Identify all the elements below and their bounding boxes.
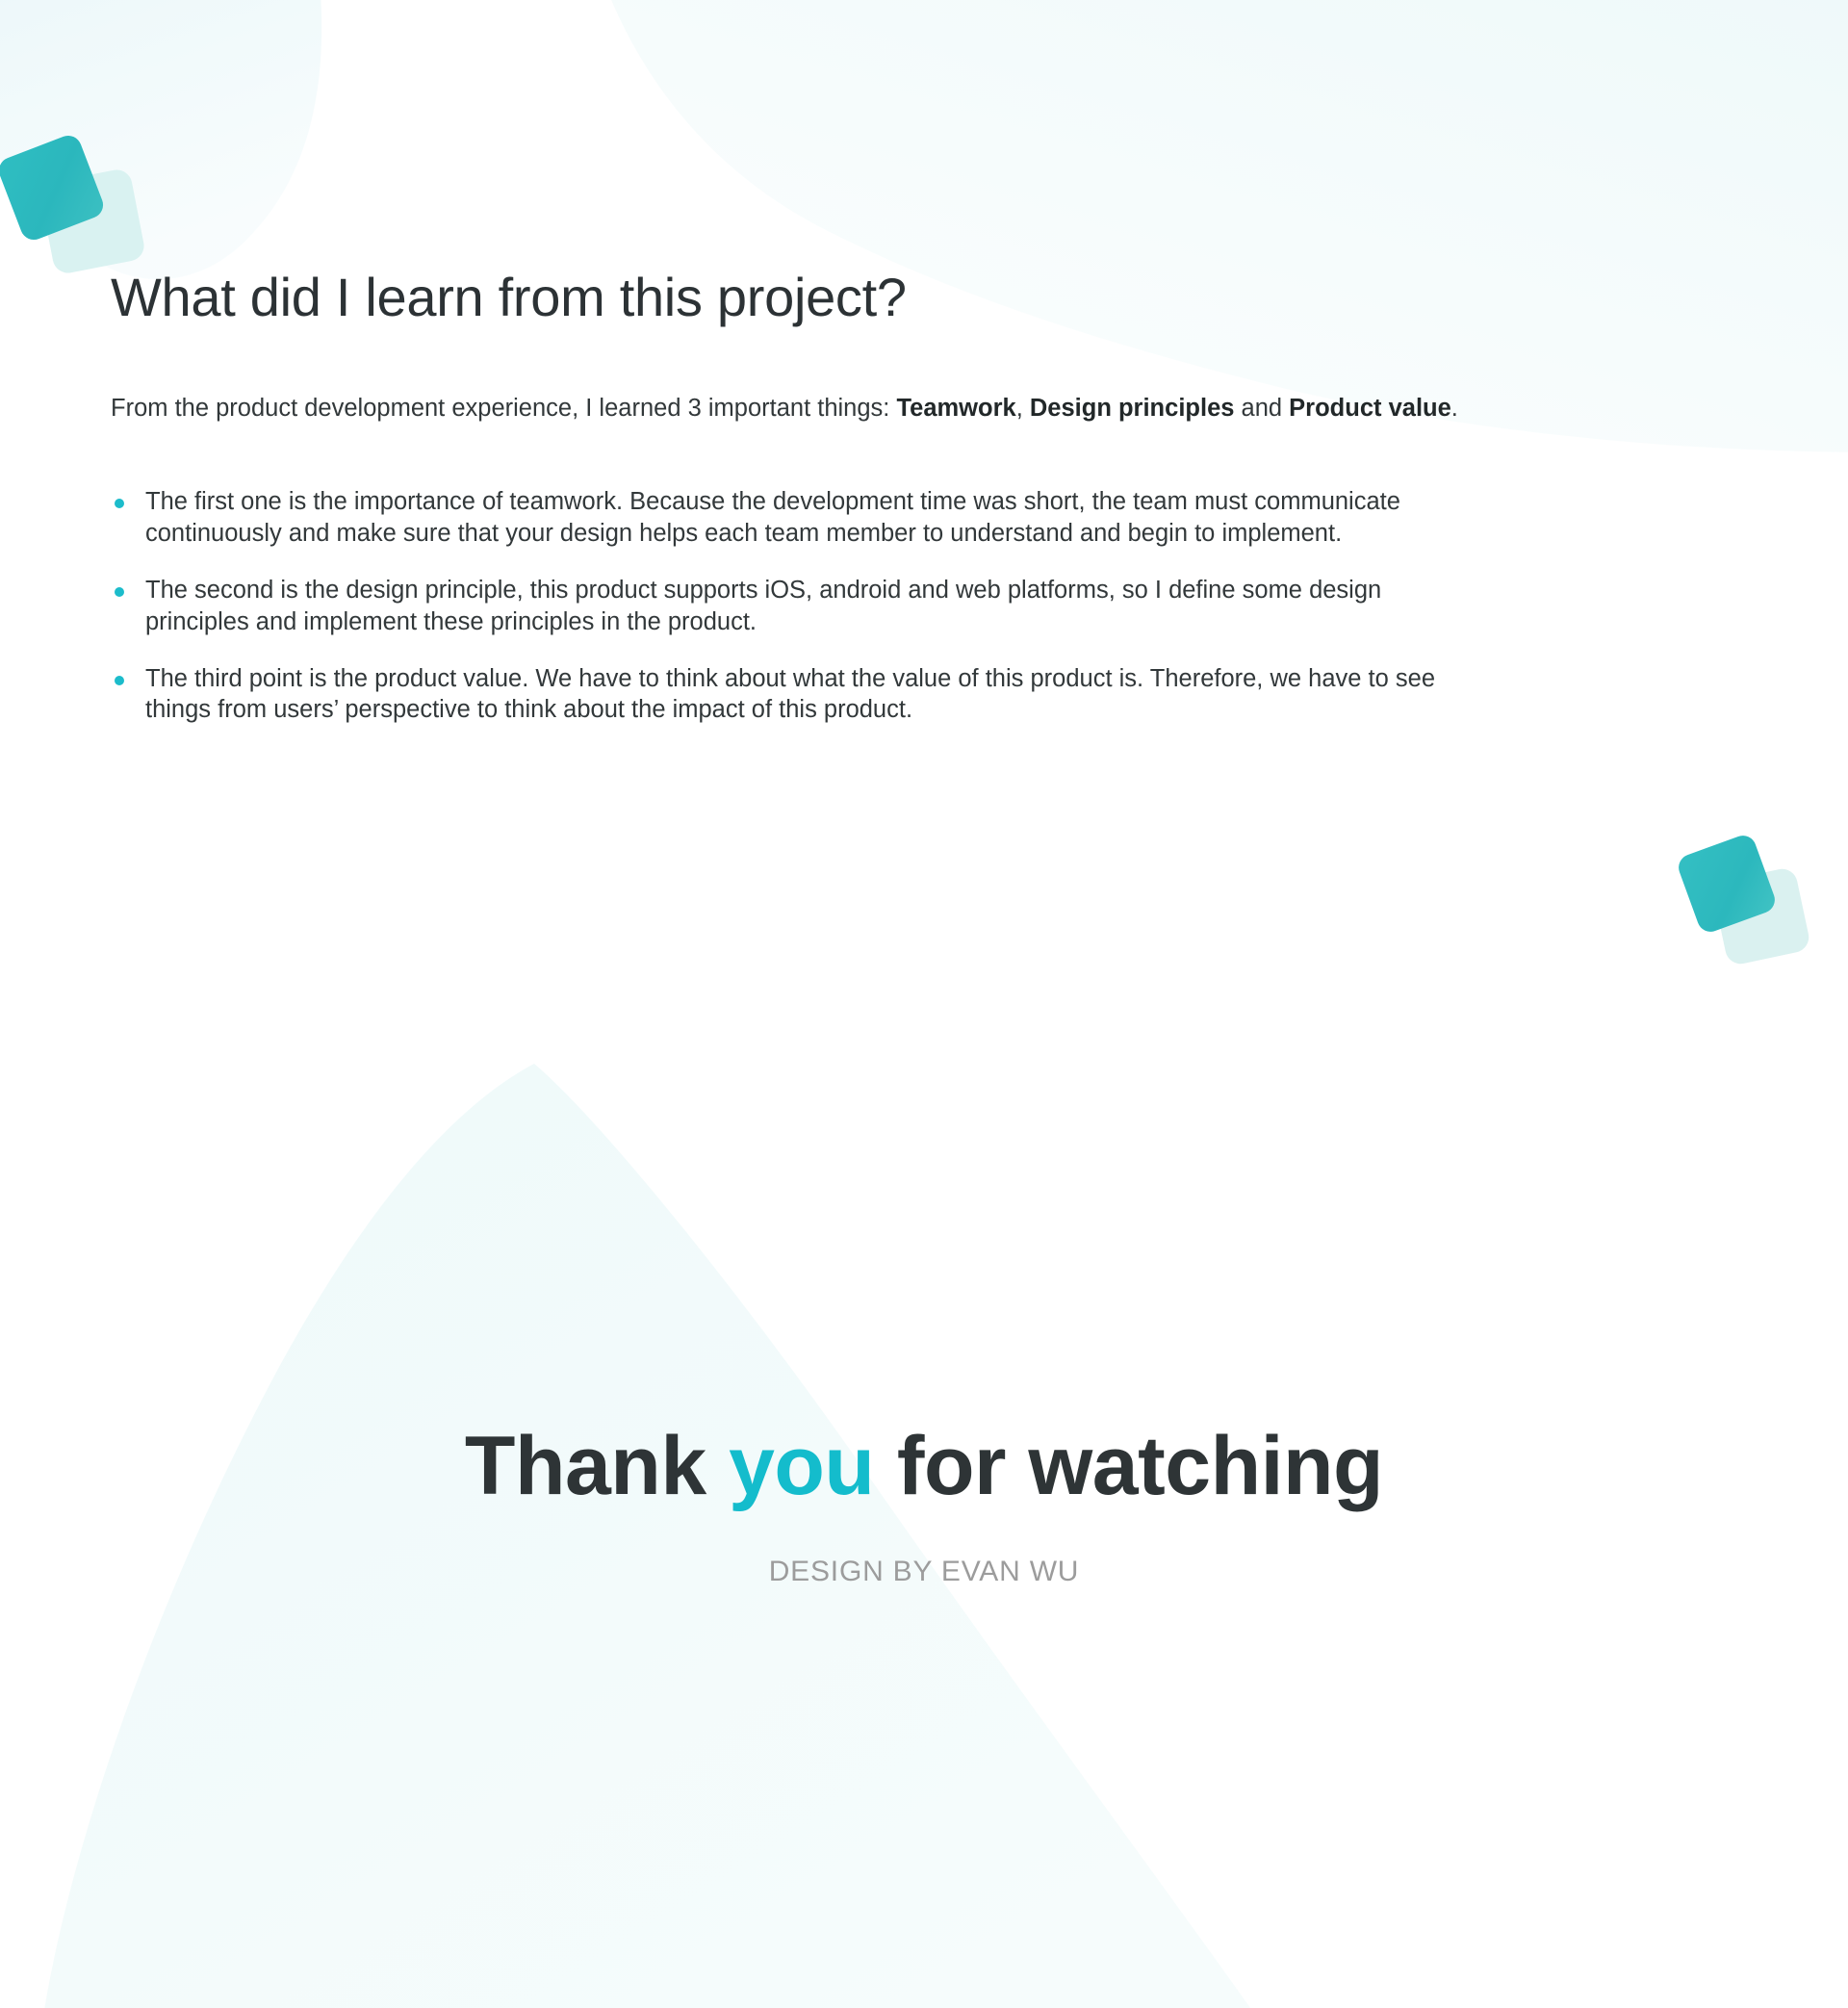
- list-item: The third point is the product value. We…: [111, 663, 1477, 727]
- intro-lead: From the product development experience,…: [111, 395, 896, 422]
- design-credit: DESIGN BY EVAN WU: [0, 1556, 1848, 1588]
- page-title: What did I learn from this project?: [111, 268, 907, 328]
- intro-tail: .: [1451, 395, 1458, 422]
- slide-canvas: What did I learn from this project? From…: [0, 0, 1848, 2008]
- list-item-text: The first one is the importance of teamw…: [145, 488, 1400, 547]
- list-item: The first one is the importance of teamw…: [111, 486, 1477, 550]
- list-item-text: The third point is the product value. We…: [145, 665, 1435, 724]
- thank-you-heading: Thank you for watching: [0, 1425, 1848, 1507]
- learning-points-list: The first one is the importance of teamw…: [111, 486, 1477, 726]
- intro-bold-product-value: Product value: [1289, 395, 1451, 422]
- thank-you-accent-word: you: [729, 1420, 874, 1512]
- list-item: The second is the design principle, this…: [111, 575, 1477, 638]
- intro-paragraph: From the product development experience,…: [111, 393, 1458, 425]
- thank-you-part-1: Thank: [465, 1420, 729, 1512]
- list-item-text: The second is the design principle, this…: [145, 577, 1381, 635]
- bullet-dot-icon: [115, 676, 124, 685]
- intro-sep-2: and: [1234, 395, 1289, 422]
- slide-content: What did I learn from this project? From…: [0, 0, 1848, 2008]
- bullet-dot-icon: [115, 587, 124, 597]
- bullet-dot-icon: [115, 499, 124, 508]
- intro-bold-design-principles: Design principles: [1030, 395, 1235, 422]
- intro-sep-1: ,: [1016, 395, 1030, 422]
- thank-you-part-2: for watching: [874, 1420, 1383, 1512]
- closing-block: Thank you for watching DESIGN BY EVAN WU: [0, 1425, 1848, 1588]
- intro-bold-teamwork: Teamwork: [896, 395, 1015, 422]
